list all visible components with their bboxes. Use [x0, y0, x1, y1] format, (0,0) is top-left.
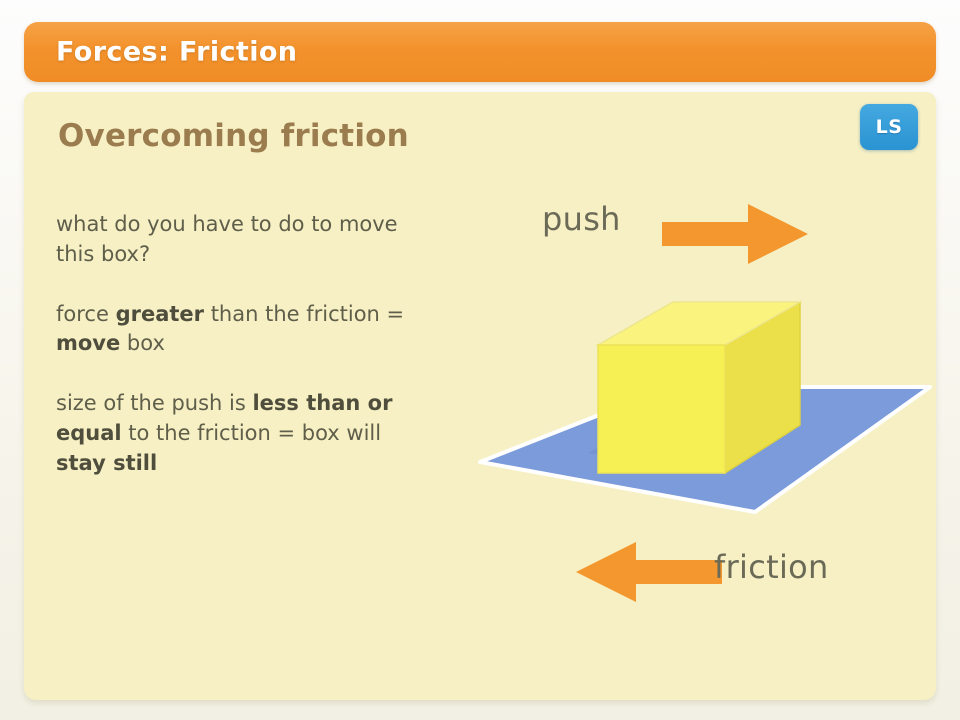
box-on-surface-illustration: [470, 277, 936, 557]
plain-text: size of the push is: [56, 391, 252, 415]
plain-text: force: [56, 302, 116, 326]
header-bar: Forces: Friction: [24, 22, 936, 82]
section-heading: Overcoming friction: [58, 118, 409, 154]
body-text-column: what do you have to do to move this box?…: [56, 210, 436, 479]
friction-diagram: push friction: [442, 182, 922, 682]
emphasis-text: move: [56, 331, 120, 355]
page-title: Forces: Friction: [56, 37, 297, 68]
slide-root: Forces: Friction LS Overcoming friction …: [0, 0, 960, 720]
friction-label: friction: [714, 548, 829, 586]
paragraph-less-rule: size of the push is less than or equal t…: [56, 389, 436, 478]
box-front-face: [598, 345, 725, 473]
plain-text: to the friction = box will: [122, 421, 381, 445]
push-arrow-icon: [662, 200, 812, 270]
content-panel: LS Overcoming friction what do you have …: [24, 92, 936, 700]
emphasis-text: greater: [116, 302, 204, 326]
ls-logo-text: LS: [876, 116, 903, 138]
plain-text: what do you have to do to move this box?: [56, 212, 398, 266]
paragraph-greater-rule: force greater than the friction = move b…: [56, 300, 436, 360]
emphasis-text: stay still: [56, 451, 157, 475]
plain-text: box: [120, 331, 165, 355]
ls-logo-badge[interactable]: LS: [860, 104, 918, 150]
push-label: push: [542, 200, 621, 238]
paragraph-question: what do you have to do to move this box?: [56, 210, 436, 270]
plain-text: than the friction =: [204, 302, 404, 326]
